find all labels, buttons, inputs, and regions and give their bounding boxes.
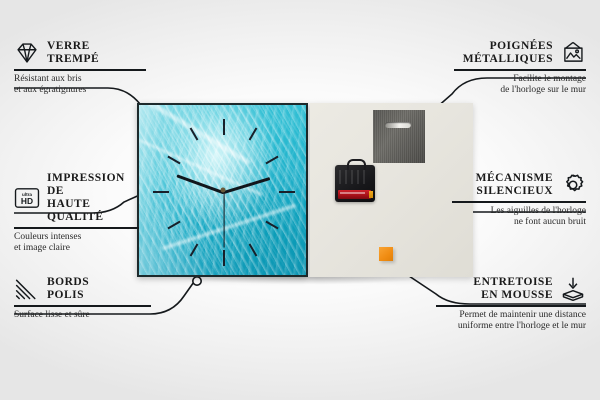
- ultra-hd-badge-icon: ultra HD: [14, 185, 40, 211]
- clock-front-panel: [137, 103, 308, 277]
- product-shadow: [137, 277, 473, 287]
- callout-title-line2: POLIS: [47, 289, 89, 302]
- callout-rule: [14, 69, 146, 71]
- clock-tick: [279, 191, 295, 193]
- infographic-canvas: VERRE TREMPÉ Résistant aux bris et aux é…: [0, 0, 600, 400]
- polished-edge-icon: [14, 276, 40, 302]
- callout-bords-polis: BORDS POLIS Surface lisse et sûre: [14, 276, 151, 321]
- clock-tick: [223, 119, 225, 135]
- callout-desc-line1: Surface lisse et sûre: [14, 310, 151, 322]
- callout-rule: [14, 227, 139, 229]
- callout-title-line1: POIGNÉES: [463, 40, 553, 53]
- callout-entretoise-mousse: ENTRETOISE EN MOUSSE Permet de maintenir…: [436, 276, 586, 333]
- callout-desc-line1: Permet de maintenir une distance: [436, 310, 586, 322]
- metallic-hanger-plate: [373, 110, 425, 163]
- callout-title-line2: HAUTE QUALITÉ: [47, 198, 139, 224]
- callout-title-line1: VERRE: [47, 40, 99, 53]
- callout-rule: [436, 305, 586, 307]
- product-image: [137, 103, 473, 277]
- clock-center-hub: [220, 188, 225, 193]
- callout-title-line1: ENTRETOISE: [473, 276, 553, 289]
- callout-desc-line1: Couleurs intenses: [14, 232, 139, 244]
- callout-title-line2: SILENCIEUX: [476, 185, 553, 198]
- callout-rule: [454, 69, 586, 71]
- callout-rule: [452, 201, 586, 203]
- foam-spacer: [379, 247, 393, 261]
- callout-desc-line1: Facilite le montage: [454, 74, 586, 86]
- callout-title-line1: BORDS: [47, 276, 89, 289]
- callout-rule: [14, 305, 151, 307]
- callout-desc-line2: de l'horloge sur le mur: [454, 85, 586, 97]
- mechanism-hanging-loop: [347, 159, 366, 170]
- foam-spacer-arrow-icon: [560, 276, 586, 302]
- battery-label: [340, 192, 365, 194]
- callout-desc-line2: uniforme entre l'horloge et le mur: [436, 321, 586, 333]
- callout-title-line2: EN MOUSSE: [473, 289, 553, 302]
- battery: [338, 190, 371, 199]
- diamond-icon: [14, 40, 40, 66]
- clock-second-hand: [223, 193, 224, 248]
- hanging-frame-icon: [560, 40, 586, 66]
- callout-title-line1: MÉCANISME: [476, 172, 553, 185]
- callout-desc-line2: ne font aucun bruit: [452, 217, 586, 229]
- callout-mecanisme-silencieux: MÉCANISME SILENCIEUX Les aiguilles de l'…: [452, 172, 586, 229]
- callout-verre-trempe: VERRE TREMPÉ Résistant aux bris et aux é…: [14, 40, 146, 97]
- callout-desc-line2: et aux égratignures: [14, 85, 146, 97]
- clock-back-panel: [310, 103, 473, 277]
- callout-title-line2: MÉTALLIQUES: [463, 53, 553, 66]
- clock-tick: [223, 250, 225, 266]
- clock-tick: [153, 191, 169, 193]
- callout-title-line2: TREMPÉ: [47, 53, 99, 66]
- clock-mechanism: [335, 165, 375, 202]
- ultra-hd-large-text: HD: [21, 196, 33, 206]
- callout-impression-hd: ultra HD IMPRESSION DE HAUTE QUALITÉ Cou…: [14, 172, 139, 255]
- callout-desc-line1: Les aiguilles de l'horloge: [452, 206, 586, 218]
- mechanism-texture: [339, 170, 369, 184]
- hanger-slot: [385, 122, 411, 128]
- gear-icon: [560, 172, 586, 198]
- callout-desc-line2: et image claire: [14, 243, 139, 255]
- callout-poignees-metalliques: POIGNÉES MÉTALLIQUES Facilite le montage…: [454, 40, 586, 97]
- callout-title-line1: IMPRESSION DE: [47, 172, 139, 198]
- callout-desc-line1: Résistant aux bris: [14, 74, 146, 86]
